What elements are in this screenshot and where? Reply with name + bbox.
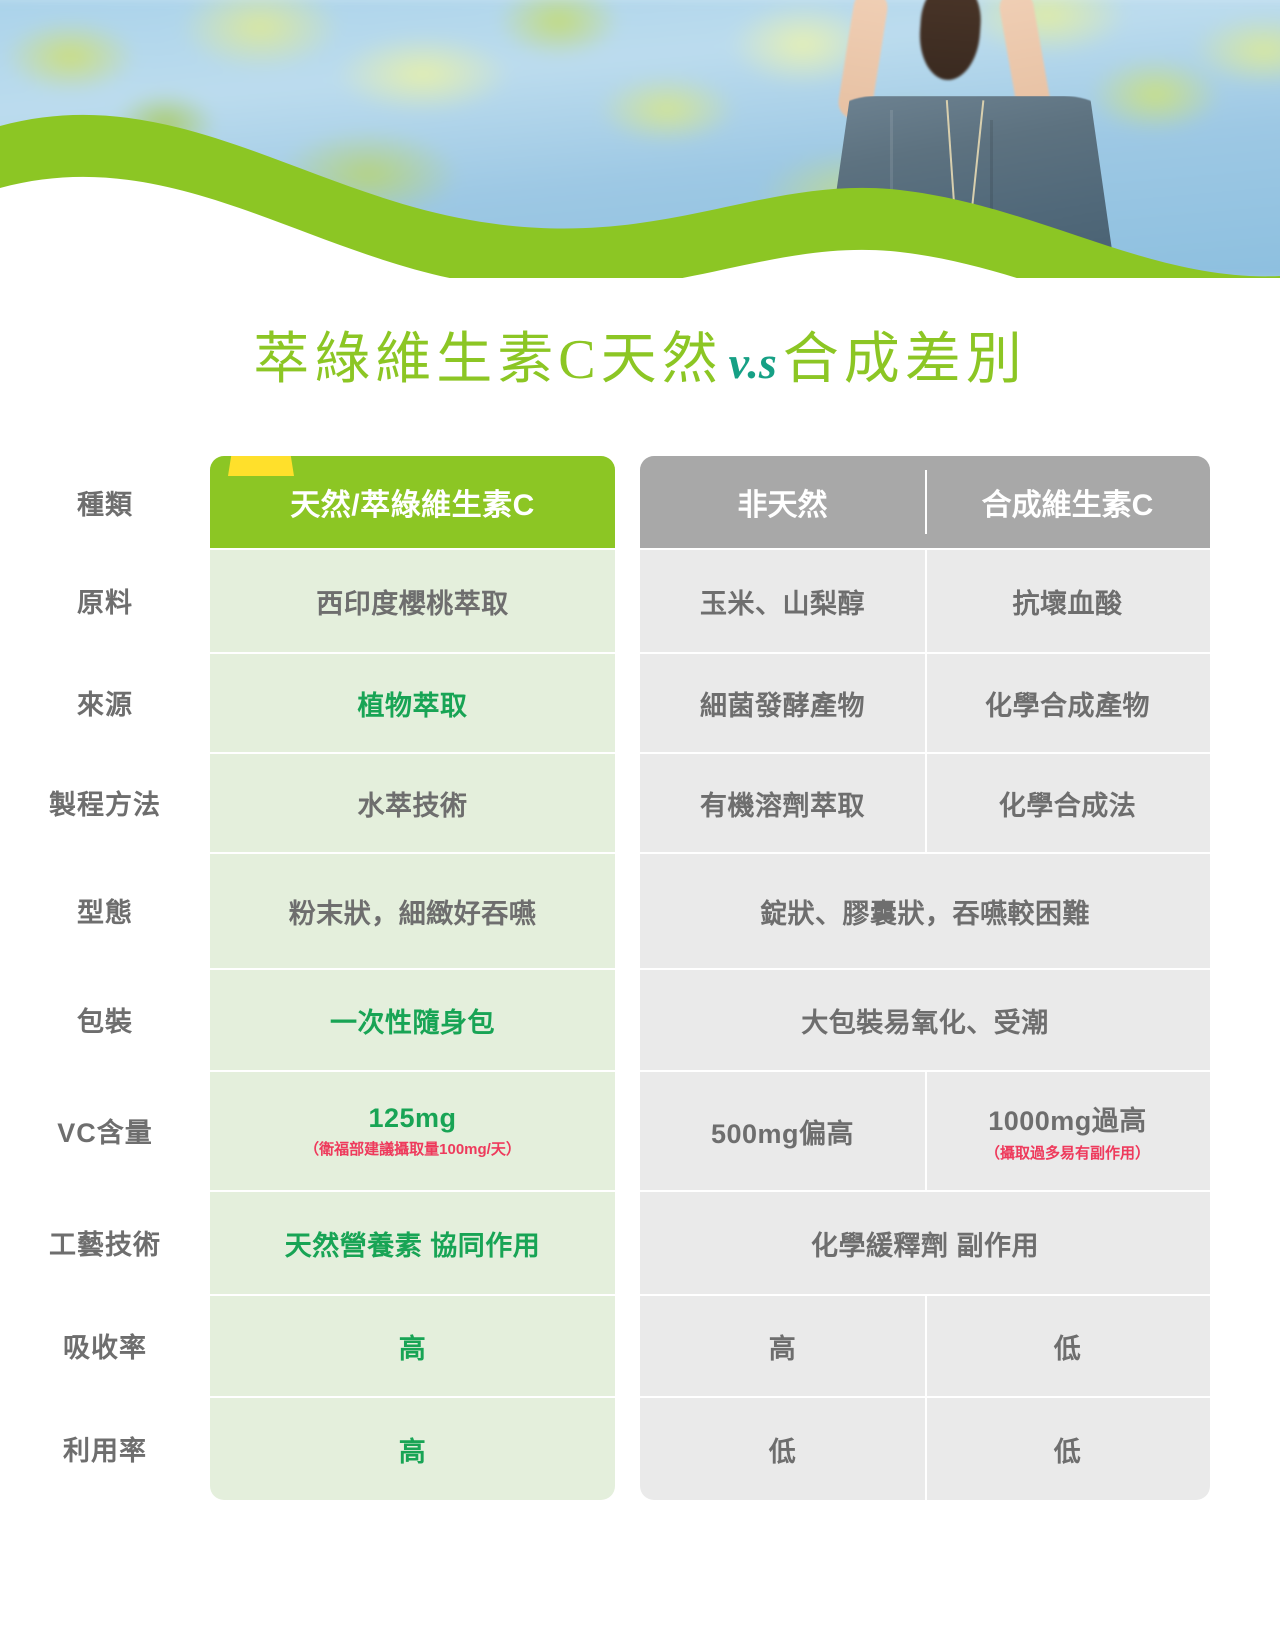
natural-cell-5: 一次性隨身包 <box>210 968 615 1070</box>
hero-banner <box>0 0 1280 278</box>
synthetic-row-9: 低低 <box>640 1396 1210 1500</box>
synthetic-cell-7-1: 化學緩釋劑 副作用 <box>640 1192 1210 1294</box>
synthetic-row-6: 500mg偏高1000mg過高（攝取過多易有副作用） <box>640 1070 1210 1190</box>
synthetic-cell-5-1: 大包裝易氧化、受潮 <box>640 970 1210 1070</box>
row-label-2: 來源 <box>0 652 210 752</box>
comparison-table: 種類原料來源製程方法型態包裝VC含量工藝技術吸收率利用率 天然/萃綠維生素C西印… <box>0 456 1280 1500</box>
synthetic-cell-value-9-2: 低 <box>1054 1430 1082 1469</box>
synthetic-row-8: 高低 <box>640 1294 1210 1396</box>
natural-cell-note-6: （衛福部建議攝取量100mg/天） <box>304 1138 521 1159</box>
synthetic-cell-note-6-2: （攝取過多易有副作用） <box>985 1142 1150 1163</box>
synthetic-column-header: 非天然合成維生素C <box>640 456 1210 548</box>
row-label-7: 工藝技術 <box>0 1190 210 1294</box>
row-label-1: 原料 <box>0 548 210 652</box>
row-label-header: 種類 <box>0 456 210 548</box>
natural-cell-7: 天然營養素 協同作用 <box>210 1190 615 1294</box>
page-title-part-2: 合成差別 <box>783 329 1027 391</box>
natural-cell-value-9: 高 <box>399 1430 427 1469</box>
synthetic-cell-2-1: 細菌發酵產物 <box>640 654 925 752</box>
row-label-5: 包裝 <box>0 968 210 1070</box>
natural-column-header-label: 天然/萃綠維生素C <box>290 480 535 524</box>
natural-cell-2: 植物萃取 <box>210 652 615 752</box>
natural-cell-value-3: 水萃技術 <box>358 784 468 823</box>
synthetic-cell-value-9-1: 低 <box>769 1430 797 1469</box>
synthetic-cell-value-3-1: 有機溶劑萃取 <box>700 784 865 823</box>
synthetic-row-7: 化學緩釋劑 副作用 <box>640 1190 1210 1294</box>
synthetic-cell-9-2: 低 <box>925 1398 1210 1500</box>
natural-cell-3: 水萃技術 <box>210 752 615 852</box>
synthetic-cell-value-5-1: 大包裝易氧化、受潮 <box>801 1001 1049 1040</box>
natural-column-header: 天然/萃綠維生素C <box>210 456 615 548</box>
synthetic-cell-value-2-1: 細菌發酵產物 <box>700 684 865 723</box>
row-label-9: 利用率 <box>0 1396 210 1500</box>
synthetic-column: 非天然合成維生素C玉米、山梨醇抗壞血酸細菌發酵產物化學合成產物有機溶劑萃取化學合… <box>640 456 1210 1500</box>
natural-cell-value-4: 粉末狀，細緻好吞嚥 <box>289 892 537 931</box>
synthetic-cell-2-2: 化學合成產物 <box>925 654 1210 752</box>
synthetic-cell-1-2: 抗壞血酸 <box>925 550 1210 652</box>
synthetic-cell-8-1: 高 <box>640 1296 925 1396</box>
synthetic-cell-value-6-2: 1000mg過高 <box>988 1099 1147 1138</box>
row-label-column: 種類原料來源製程方法型態包裝VC含量工藝技術吸收率利用率 <box>0 456 210 1500</box>
natural-cell-8: 高 <box>210 1294 615 1396</box>
natural-cell-4: 粉末狀，細緻好吞嚥 <box>210 852 615 968</box>
row-label-6: VC含量 <box>0 1070 210 1190</box>
synthetic-cell-value-8-1: 高 <box>769 1327 797 1366</box>
synthetic-panel: 非天然合成維生素C玉米、山梨醇抗壞血酸細菌發酵產物化學合成產物有機溶劑萃取化學合… <box>640 456 1210 1500</box>
synthetic-cell-6-2: 1000mg過高（攝取過多易有副作用） <box>925 1072 1210 1190</box>
natural-cell-9: 高 <box>210 1396 615 1500</box>
synthetic-cell-1-1: 玉米、山梨醇 <box>640 550 925 652</box>
synthetic-cell-9-1: 低 <box>640 1398 925 1500</box>
synthetic-column-header-label-1: 非天然 <box>640 456 925 548</box>
row-label-3: 製程方法 <box>0 752 210 852</box>
natural-cell-value-6: 125mg <box>368 1103 456 1134</box>
synthetic-cell-6-1: 500mg偏高 <box>640 1072 925 1190</box>
synthetic-row-2: 細菌發酵產物化學合成產物 <box>640 652 1210 752</box>
synthetic-cell-value-1-2: 抗壞血酸 <box>1013 582 1123 621</box>
synthetic-cell-value-8-2: 低 <box>1054 1327 1082 1366</box>
row-label-4: 型態 <box>0 852 210 968</box>
synthetic-cell-value-3-2: 化學合成法 <box>999 784 1137 823</box>
natural-cell-value-5: 一次性隨身包 <box>330 1001 495 1040</box>
row-label-8: 吸收率 <box>0 1294 210 1396</box>
synthetic-row-3: 有機溶劑萃取化學合成法 <box>640 752 1210 852</box>
synthetic-row-5: 大包裝易氧化、受潮 <box>640 968 1210 1070</box>
crown-icon <box>224 456 298 480</box>
synthetic-row-1: 玉米、山梨醇抗壞血酸 <box>640 548 1210 652</box>
natural-column: 天然/萃綠維生素C西印度櫻桃萃取植物萃取水萃技術粉末狀，細緻好吞嚥一次性隨身包1… <box>210 456 615 1500</box>
page-title-part-1: 萃綠維生素C天然 <box>253 329 722 391</box>
natural-cell-value-1: 西印度櫻桃萃取 <box>316 582 509 621</box>
synthetic-cell-value-4-1: 錠狀、膠囊狀，吞嚥較困難 <box>760 892 1090 931</box>
synthetic-cell-3-2: 化學合成法 <box>925 754 1210 852</box>
green-wave-divider-icon <box>0 70 1280 278</box>
synthetic-cell-value-7-1: 化學緩釋劑 副作用 <box>811 1224 1039 1263</box>
synthetic-cell-value-6-1: 500mg偏高 <box>711 1112 854 1151</box>
natural-panel: 天然/萃綠維生素C西印度櫻桃萃取植物萃取水萃技術粉末狀，細緻好吞嚥一次性隨身包1… <box>210 456 615 1500</box>
synthetic-cell-value-1-1: 玉米、山梨醇 <box>700 582 865 621</box>
synthetic-column-header-label-2: 合成維生素C <box>925 456 1210 548</box>
synthetic-cell-8-2: 低 <box>925 1296 1210 1396</box>
page-title-vs: v.s <box>723 337 783 388</box>
page-title: 萃綠維生素C天然v.s合成差別 <box>0 314 1280 395</box>
natural-cell-value-8: 高 <box>399 1327 427 1366</box>
synthetic-row-4: 錠狀、膠囊狀，吞嚥較困難 <box>640 852 1210 968</box>
synthetic-cell-4-1: 錠狀、膠囊狀，吞嚥較困難 <box>640 854 1210 968</box>
synthetic-cell-value-2-2: 化學合成產物 <box>985 684 1150 723</box>
natural-cell-1: 西印度櫻桃萃取 <box>210 548 615 652</box>
natural-cell-value-2: 植物萃取 <box>358 684 468 723</box>
column-gap <box>615 456 640 1500</box>
natural-cell-6: 125mg（衛福部建議攝取量100mg/天） <box>210 1070 615 1190</box>
natural-cell-value-7: 天然營養素 協同作用 <box>285 1224 541 1263</box>
synthetic-cell-3-1: 有機溶劑萃取 <box>640 754 925 852</box>
